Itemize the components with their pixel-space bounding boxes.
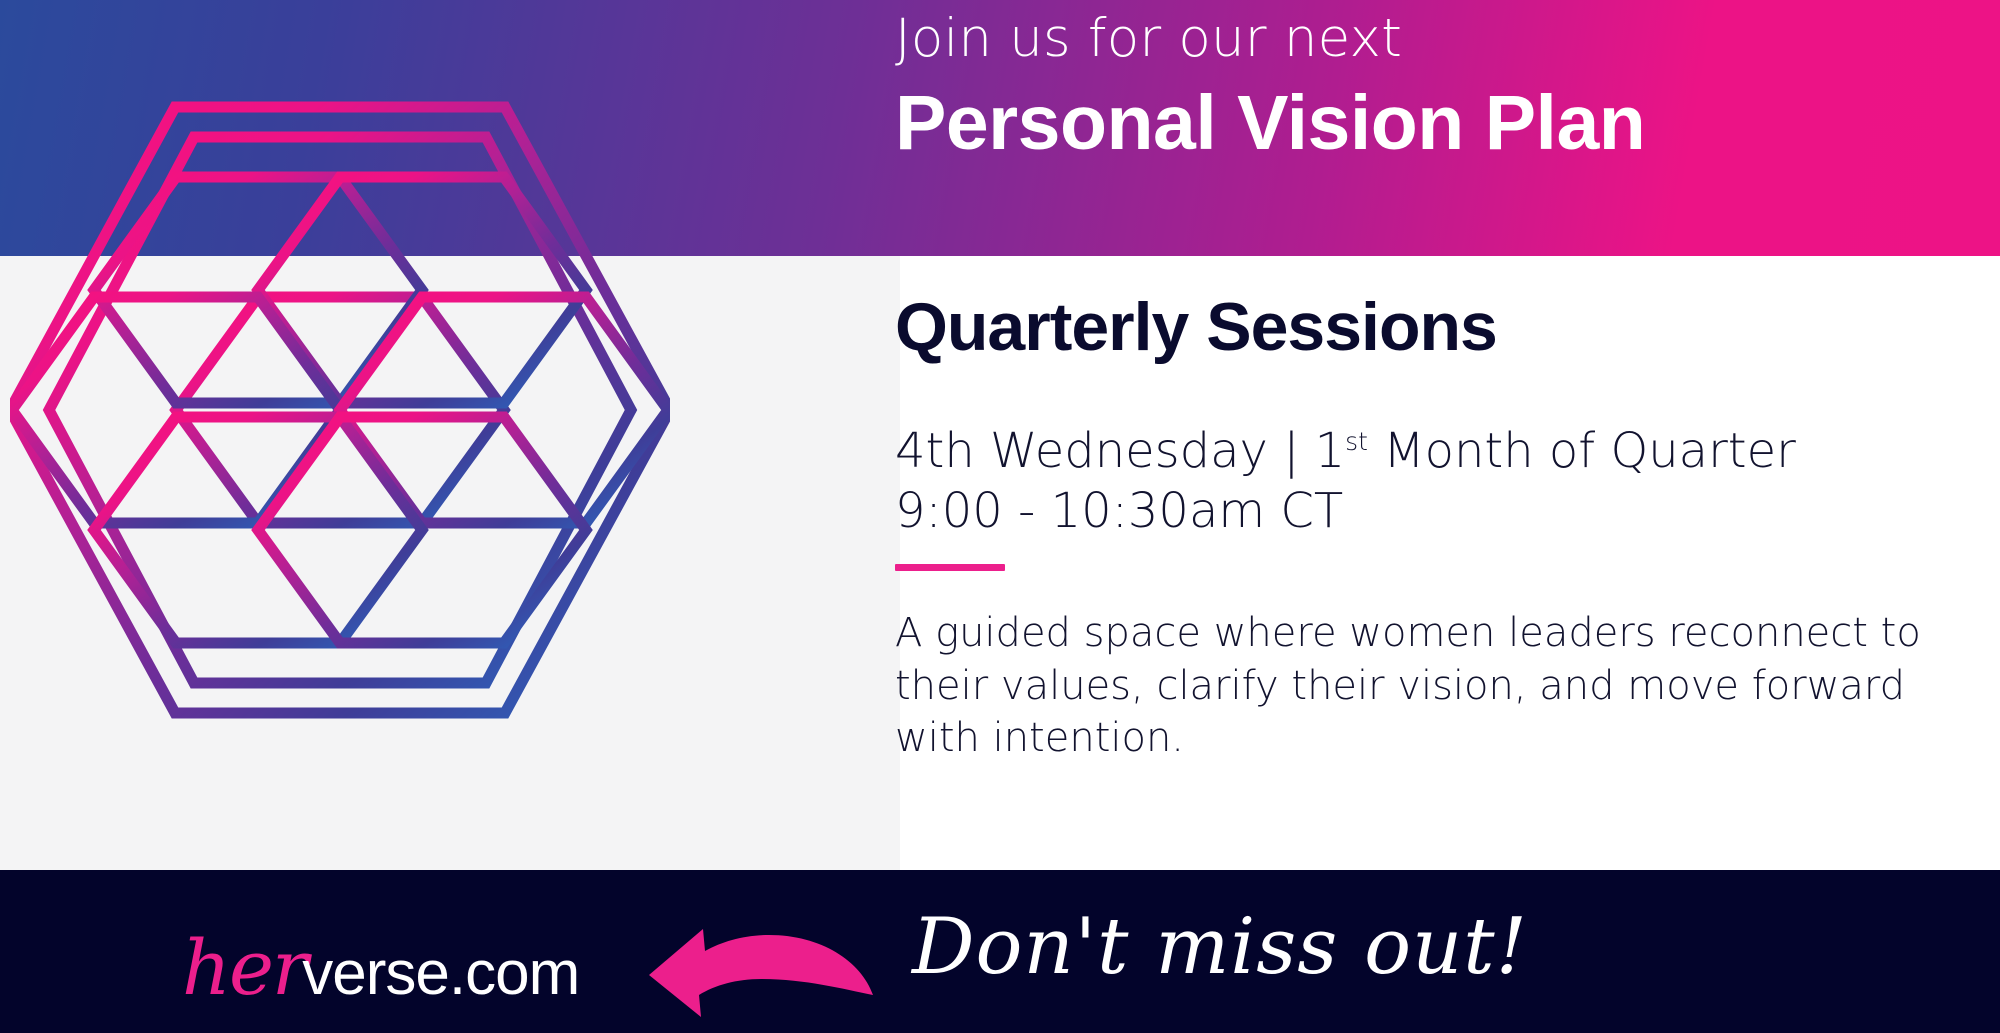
brand-logo[interactable]: herverse.com xyxy=(182,930,579,1006)
header-text-block: Join us for our next Personal Vision Pla… xyxy=(895,8,2000,170)
brand-logo-rest: verse.com xyxy=(302,943,579,1005)
schedule-line-date: 4th Wednesday | 1st Month of Quarter xyxy=(895,421,1975,481)
accent-divider xyxy=(895,564,1005,571)
session-title: Quarterly Sessions xyxy=(895,290,1975,365)
eyebrow-text: Join us for our next xyxy=(895,8,2000,71)
curved-arrow-left-icon xyxy=(645,925,875,1025)
schedule-block: 4th Wednesday | 1st Month of Quarter 9:0… xyxy=(895,421,1975,542)
brand-logo-accent: her xyxy=(182,930,306,1006)
schedule-date-post: Month of Quarter xyxy=(1368,423,1796,479)
tagline-text: Don't miss out! xyxy=(912,908,1528,986)
schedule-line-time: 9:00 - 10:30am CT xyxy=(895,481,1975,541)
schedule-ordinal-suffix: st xyxy=(1345,427,1368,456)
main-content-block: Quarterly Sessions 4th Wednesday | 1st M… xyxy=(895,290,1975,765)
poster-canvas: Join us for our next Personal Vision Pla… xyxy=(0,0,2000,1033)
description-text: A guided space where women leaders recon… xyxy=(895,607,1975,765)
schedule-date-pre: 4th Wednesday | 1 xyxy=(895,423,1345,479)
hexagon-flower-logo xyxy=(10,85,670,735)
headline-text: Personal Vision Plan xyxy=(895,77,2000,171)
